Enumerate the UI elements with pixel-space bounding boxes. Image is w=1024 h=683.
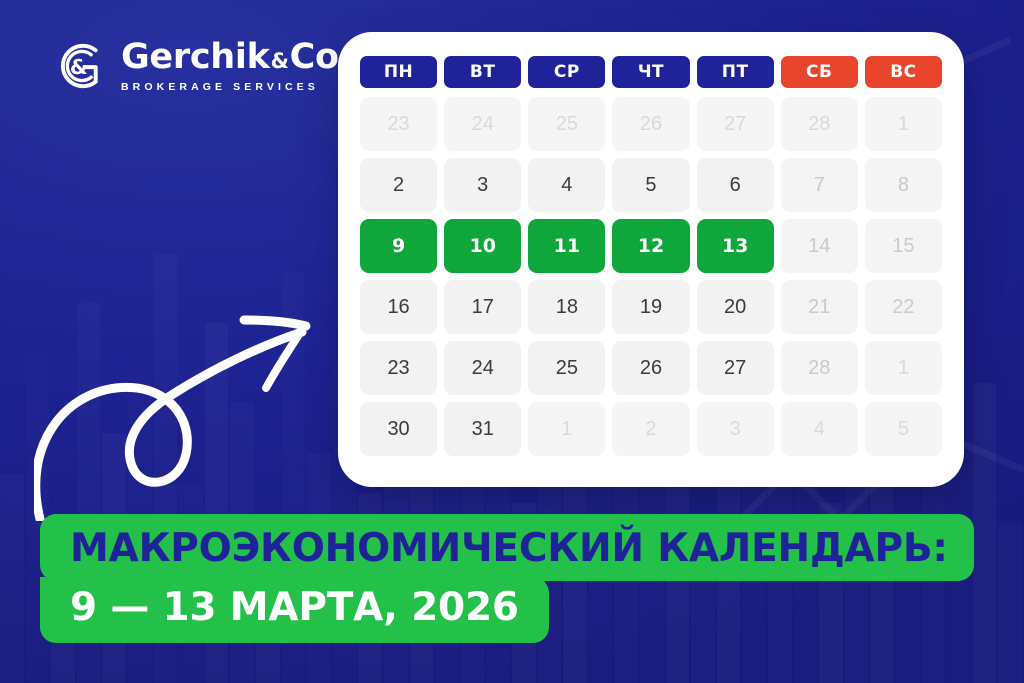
background-bar — [998, 523, 1022, 683]
calendar-day-cell[interactable]: 27 — [697, 341, 774, 395]
calendar-day-cell[interactable]: 16 — [360, 280, 437, 334]
calendar-day-cell[interactable]: 30 — [360, 402, 437, 456]
brand-logo[interactable]: & Gerchik&Co BROKERAGE SERVICES — [52, 38, 339, 94]
calendar-day-cell[interactable]: 8 — [865, 158, 942, 212]
calendar-day-cell[interactable]: 18 — [528, 280, 605, 334]
calendar-dow-5: ПТ — [697, 56, 774, 88]
svg-text:&: & — [70, 55, 88, 79]
calendar-day-cell[interactable]: 23 — [360, 97, 437, 151]
calendar-day-cell[interactable]: 2 — [612, 402, 689, 456]
calendar-day-cell[interactable]: 1 — [528, 402, 605, 456]
calendar-day-cell[interactable]: 5 — [612, 158, 689, 212]
background-bar — [0, 473, 24, 683]
calendar-day-cell[interactable]: 24 — [444, 341, 521, 395]
calendar-day-cell[interactable]: 25 — [528, 341, 605, 395]
calendar-day-cell-highlighted[interactable]: 13 — [697, 219, 774, 273]
calendar-day-cell[interactable]: 26 — [612, 97, 689, 151]
calendar-day-cell-highlighted[interactable]: 12 — [612, 219, 689, 273]
title-banner: МАКРОЭКОНОМИЧЕСКИЙ КАЛЕНДАРЬ: 9 — 13 МАР… — [40, 514, 974, 643]
hand-drawn-loop-arrow-up-icon — [34, 276, 334, 521]
calendar-day-cell[interactable]: 15 — [865, 219, 942, 273]
calendar-dow-3: СР — [528, 56, 605, 88]
calendar-dow-1: ПН — [360, 56, 437, 88]
calendar-dow-4: ЧТ — [612, 56, 689, 88]
calendar-day-cell[interactable]: 19 — [612, 280, 689, 334]
calendar-day-cell[interactable]: 5 — [865, 402, 942, 456]
brand-wordmark: Gerchik&Co — [121, 40, 339, 75]
calendar-day-cell[interactable]: 26 — [612, 341, 689, 395]
calendar-day-cell[interactable]: 14 — [781, 219, 858, 273]
calendar-day-cell-highlighted[interactable]: 11 — [528, 219, 605, 273]
calendar-day-cell[interactable]: 22 — [865, 280, 942, 334]
calendar-day-cell[interactable]: 6 — [697, 158, 774, 212]
calendar-day-cell[interactable]: 1 — [865, 97, 942, 151]
brand-ampersand: & — [270, 51, 290, 72]
calendar-days-grid: 2324252627281234567891011121314151617181… — [360, 97, 942, 456]
calendar-day-cell[interactable]: 27 — [697, 97, 774, 151]
calendar-day-cell[interactable]: 24 — [444, 97, 521, 151]
calendar-dow-7: ВС — [865, 56, 942, 88]
calendar-day-cell[interactable]: 4 — [781, 402, 858, 456]
background-bar — [973, 383, 997, 683]
calendar-day-cell[interactable]: 25 — [528, 97, 605, 151]
calendar-dow-2: ВТ — [444, 56, 521, 88]
calendar-day-cell[interactable]: 7 — [781, 158, 858, 212]
calendar-day-cell[interactable]: 3 — [444, 158, 521, 212]
brand-name-primary: Gerchik — [121, 40, 270, 75]
banner-line-2: 9 — 13 МАРТА, 2026 — [40, 577, 549, 643]
calendar-day-cell[interactable]: 23 — [360, 341, 437, 395]
calendar-day-cell[interactable]: 21 — [781, 280, 858, 334]
calendar-dow-6: СБ — [781, 56, 858, 88]
banner-line-1: МАКРОЭКОНОМИЧЕСКИЙ КАЛЕНДАРЬ: — [40, 514, 974, 581]
calendar-day-cell[interactable]: 20 — [697, 280, 774, 334]
calendar-day-cell[interactable]: 17 — [444, 280, 521, 334]
gerchik-circle-g-ampersand-logo-icon: & — [52, 38, 108, 94]
calendar-day-header-row: ПНВТСРЧТПТСБВС — [360, 56, 942, 88]
calendar-day-cell[interactable]: 4 — [528, 158, 605, 212]
calendar-day-cell[interactable]: 28 — [781, 341, 858, 395]
calendar-day-cell[interactable]: 2 — [360, 158, 437, 212]
brand-name-secondary: Co — [290, 40, 339, 75]
calendar-day-cell[interactable]: 31 — [444, 402, 521, 456]
calendar-day-cell[interactable]: 3 — [697, 402, 774, 456]
calendar-day-cell[interactable]: 1 — [865, 341, 942, 395]
calendar-day-cell-highlighted[interactable]: 10 — [444, 219, 521, 273]
calendar-day-cell[interactable]: 28 — [781, 97, 858, 151]
calendar-card: ПНВТСРЧТПТСБВС 2324252627281234567891011… — [338, 32, 964, 487]
calendar-day-cell-highlighted[interactable]: 9 — [360, 219, 437, 273]
brand-tagline: BROKERAGE SERVICES — [121, 81, 339, 93]
poster-canvas: & Gerchik&Co BROKERAGE SERVICES ПНВТСРЧТ… — [0, 0, 1024, 683]
